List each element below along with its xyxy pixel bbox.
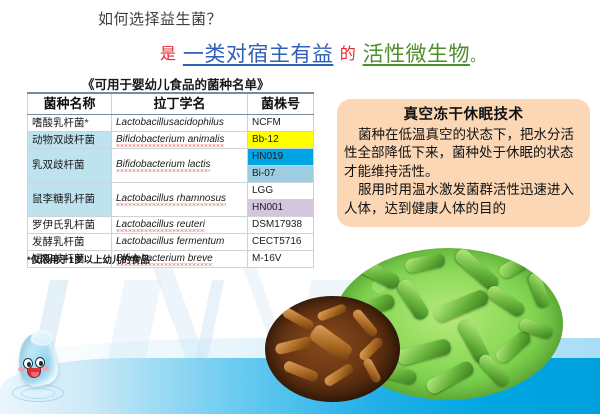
cell-chinese-name: 罗伊氏乳杆菌: [28, 216, 112, 233]
table-row: 动物双歧杆菌 Bifidobacterium animalis Bb-12: [28, 131, 314, 148]
cell-strain-no: Bb-12: [248, 131, 314, 148]
brown-bacteria-image: [265, 296, 400, 402]
info-panel-paragraph-1: 菌种在低温真空的状态下，把水分活性全部降低下来，菌种处于休眠的状态才能维持活性。: [344, 126, 583, 182]
info-panel-title: 真空冻干休眠技术: [344, 106, 583, 125]
info-panel: 真空冻干休眠技术 菌种在低温真空的状态下，把水分活性全部降低下来，菌种处于休眠的…: [337, 99, 590, 227]
cell-chinese-name: 乳双歧杆菌: [28, 148, 112, 182]
table-row: 罗伊氏乳杆菌 Lactobacillus reuteri DSM17938: [28, 216, 314, 233]
subtitle-red-de: 的: [340, 46, 357, 63]
table-row: 嗜酸乳杆菌* Lactobacillusacidophilus NCFM: [28, 114, 314, 131]
column-header-chinese-name: 菌种名称: [28, 93, 112, 114]
cell-strain-no: CECT5716: [248, 233, 314, 250]
column-header-strain-no: 菌株号: [248, 93, 314, 114]
cell-latin-name: Lactobacillus rhamnosus: [112, 182, 248, 216]
latin-text: Bifidobacterium animalis: [116, 134, 224, 147]
latin-text: Lactobacillus rhamnosus: [116, 193, 226, 206]
cell-strain-no: HN001: [248, 199, 314, 216]
cell-strain-no: NCFM: [248, 114, 314, 131]
latin-text: Lactobacillusacidophilus: [116, 117, 224, 128]
subtitle-red-shi: 是: [160, 46, 177, 63]
water-droplet-mascot: [10, 334, 68, 406]
info-panel-paragraph-2: 服用时用温水激发菌群活性迅速进入人体，达到健康人体的目的: [344, 181, 583, 218]
ripple-inner: [21, 388, 55, 399]
subtitle-blue-text: 一类对宿主有益: [183, 43, 334, 66]
table-footnote: *仅限用于1岁以上幼儿的食品: [27, 252, 150, 266]
table-header-row: 菌种名称 拉丁学名 菌株号: [28, 93, 314, 114]
slide-canvas: 如何选择益生菌？ 是 一类对宿主有益 的 活性微生物。 《可用于婴幼儿食品的菌种…: [0, 0, 600, 414]
page-title: 如何选择益生菌？: [98, 8, 222, 29]
pupil-right: [39, 361, 44, 366]
subtitle-period: 。: [470, 48, 486, 65]
table-row: 发酵乳杆菌 Lactobacillus fermentum CECT5716: [28, 233, 314, 250]
cell-latin-name: Bifidobacterium animalis: [112, 131, 248, 148]
cell-latin-name: Lactobacillus fermentum: [112, 233, 248, 250]
mascot-cheek-left: [18, 367, 25, 372]
cell-strain-no: Bi-07: [248, 165, 314, 182]
cell-strain-no: HN019: [248, 148, 314, 165]
subtitle-line: 是 一类对宿主有益 的 活性微生物。: [160, 38, 486, 68]
cell-chinese-name: 发酵乳杆菌: [28, 233, 112, 250]
table-row: 乳双歧杆菌 Bifidobacterium lactis HN019: [28, 148, 314, 165]
species-table-container: 菌种名称 拉丁学名 菌株号 嗜酸乳杆菌* Lactobacillusacidop…: [27, 92, 314, 268]
mascot-cheek-right: [42, 366, 49, 371]
table-caption: 《可用于婴幼儿食品的菌种名单》: [82, 74, 270, 93]
cell-strain-no: DSM17938: [248, 216, 314, 233]
cell-chinese-name: 嗜酸乳杆菌*: [28, 114, 112, 131]
cell-chinese-name: 动物双歧杆菌: [28, 131, 112, 148]
cell-latin-name: Bifidobacterium lactis: [112, 148, 248, 182]
cell-latin-name: Lactobacillus reuteri: [112, 216, 248, 233]
mascot-tongue: [31, 372, 39, 377]
latin-text: Lactobacillus fermentum: [116, 236, 224, 247]
latin-text: Bifidobacterium lactis: [116, 159, 210, 172]
pupil-left: [27, 362, 32, 367]
cell-latin-name: Lactobacillusacidophilus: [112, 114, 248, 131]
cell-strain-no: M-16V: [248, 250, 314, 267]
cell-chinese-name: 鼠李糖乳杆菌: [28, 182, 112, 216]
species-table-body: 嗜酸乳杆菌* Lactobacillusacidophilus NCFM 动物双…: [28, 114, 314, 267]
cell-strain-no: LGG: [248, 182, 314, 199]
subtitle-green-text: 活性微生物: [363, 43, 471, 66]
column-header-latin-name: 拉丁学名: [112, 93, 248, 114]
species-table: 菌种名称 拉丁学名 菌株号 嗜酸乳杆菌* Lactobacillusacidop…: [27, 92, 314, 268]
table-row: 鼠李糖乳杆菌 Lactobacillus rhamnosus LGG: [28, 182, 314, 199]
latin-text: Lactobacillus reuteri: [116, 219, 205, 232]
